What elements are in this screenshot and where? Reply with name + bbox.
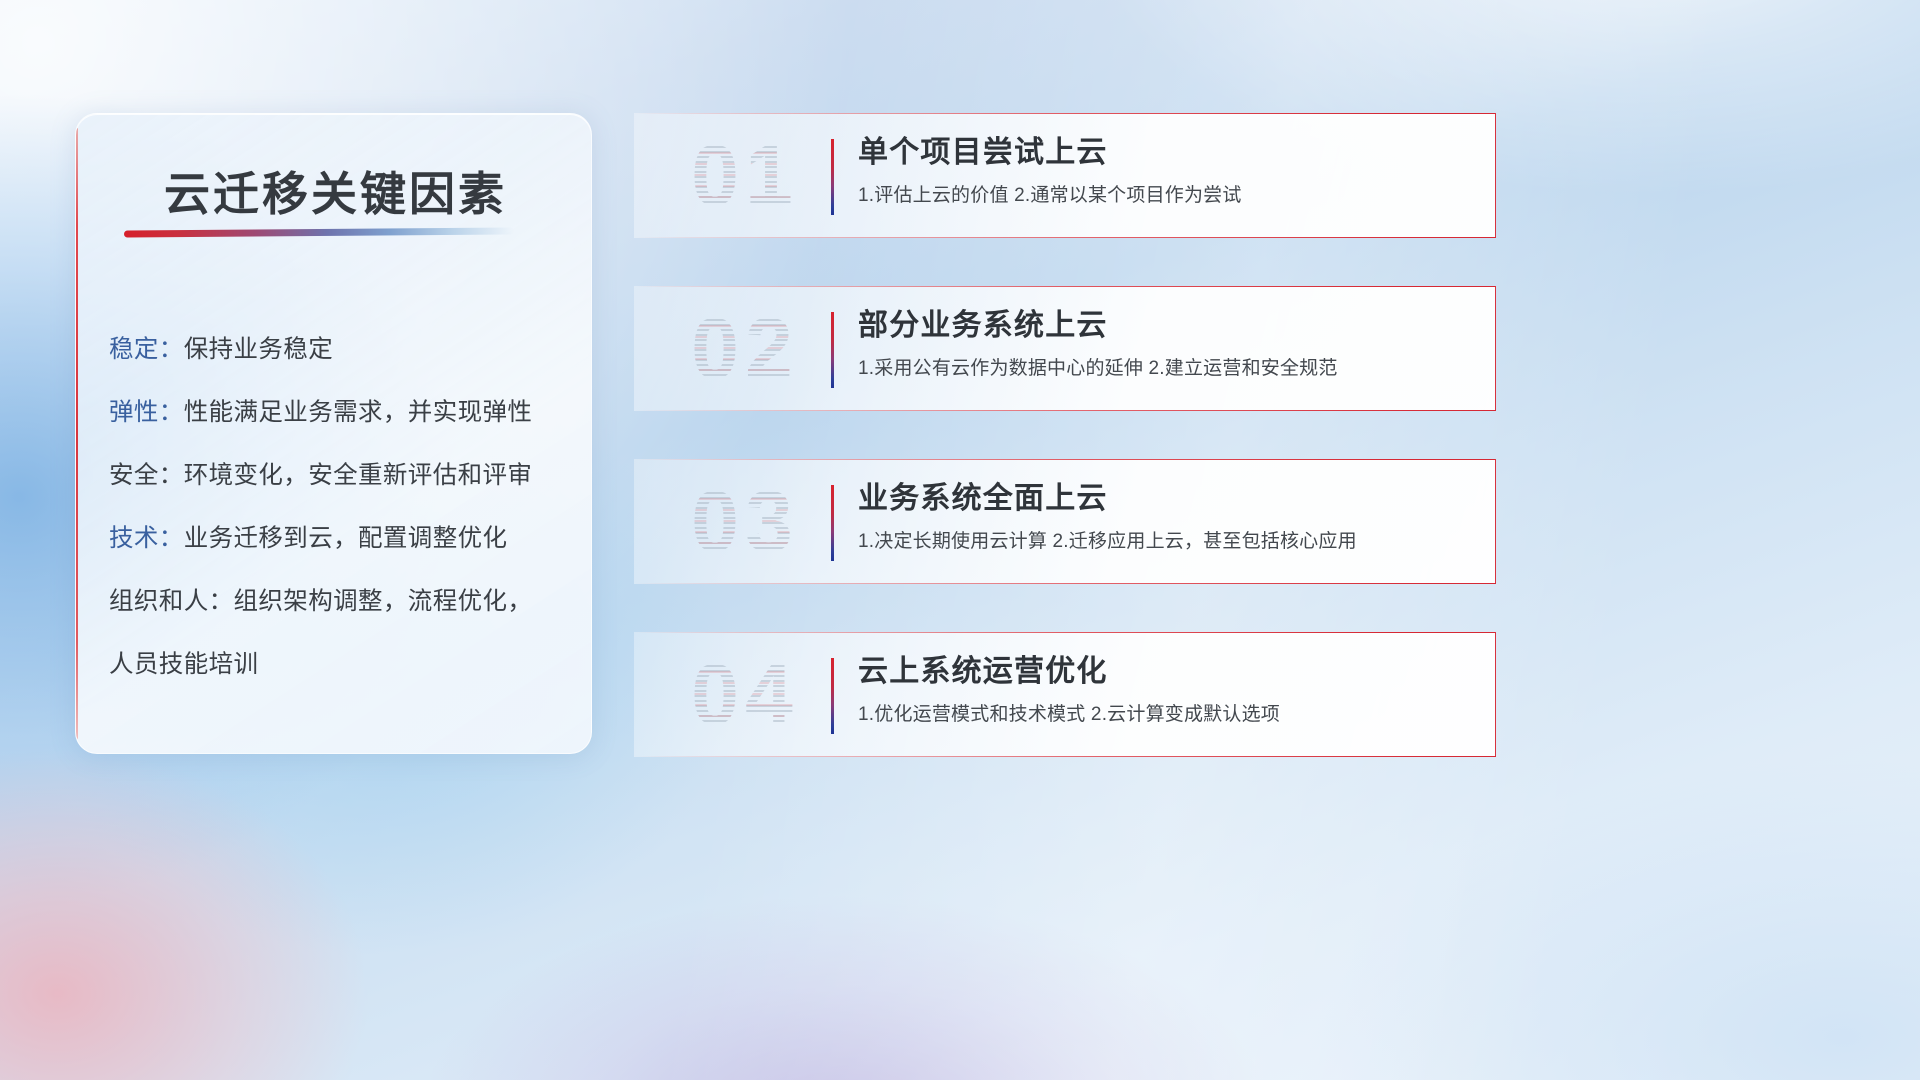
card-title: 部分业务系统上云 — [858, 306, 1470, 346]
migration-stage-cards: 01 01 单个项目尝试上云 1.评估上云的价值 2.通常以某个项目作为尝试 0… — [634, 113, 1496, 805]
card-description: 1.评估上云的价值 2.通常以某个项目作为尝试 — [858, 183, 1470, 209]
stage-number-ghost-tint: 03 — [650, 467, 840, 577]
card-description: 1.优化运营模式和技术模式 2.云计算变成默认选项 — [858, 702, 1470, 728]
factor-label: 稳定： — [109, 336, 184, 363]
factor-text: 性能满足业务需求，并实现弹性 — [184, 399, 533, 426]
factor-label: 安全： — [109, 462, 184, 489]
card-title: 单个项目尝试上云 — [858, 133, 1470, 173]
factor-label: 弹性： — [109, 399, 184, 426]
panel-left-accent-bar — [76, 128, 78, 739]
card-accent-bar — [831, 312, 834, 388]
card-description: 1.采用公有云作为数据中心的延伸 2.建立运营和安全规范 — [858, 356, 1470, 382]
page-title: 云迁移关键因素 — [164, 158, 507, 224]
card-body: 部分业务系统上云 1.采用公有云作为数据中心的延伸 2.建立运营和安全规范 — [858, 306, 1470, 382]
card-right-edge — [1495, 113, 1497, 238]
card-title: 业务系统全面上云 — [858, 479, 1470, 519]
stage-card-02[interactable]: 02 02 部分业务系统上云 1.采用公有云作为数据中心的延伸 2.建立运营和安… — [634, 286, 1496, 411]
card-body: 单个项目尝试上云 1.评估上云的价值 2.通常以某个项目作为尝试 — [858, 133, 1470, 209]
stage-number-ghost-tint: 02 — [650, 294, 840, 404]
card-description: 1.决定长期使用云计算 2.迁移应用上云，甚至包括核心应用 — [858, 529, 1470, 555]
card-title: 云上系统运营优化 — [858, 652, 1470, 692]
factor-row: 弹性：性能满足业务需求，并实现弹性 — [109, 381, 577, 444]
factor-text: 组织架构调整，流程优化， — [234, 588, 533, 615]
factor-text: 人员技能培训 — [109, 651, 258, 678]
stage-card-03[interactable]: 03 03 业务系统全面上云 1.决定长期使用云计算 2.迁移应用上云，甚至包括… — [634, 459, 1496, 584]
stage-card-01[interactable]: 01 01 单个项目尝试上云 1.评估上云的价值 2.通常以某个项目作为尝试 — [634, 113, 1496, 238]
stage-number-ghost-tint: 04 — [650, 640, 840, 750]
factor-text: 环境变化，安全重新评估和评审 — [184, 462, 533, 489]
stage-number-ghost-tint: 01 — [650, 121, 840, 231]
card-right-edge — [1495, 459, 1497, 584]
factor-row: 安全：环境变化，安全重新评估和评审 — [109, 444, 577, 507]
title-underline-rule — [124, 227, 514, 237]
key-factors-panel: 云迁移关键因素 稳定：保持业务稳定 弹性：性能满足业务需求，并实现弹性 安全：环… — [75, 113, 592, 754]
card-accent-bar — [831, 485, 834, 561]
factor-text: 业务迁移到云，配置调整优化 — [184, 525, 508, 552]
card-body: 业务系统全面上云 1.决定长期使用云计算 2.迁移应用上云，甚至包括核心应用 — [858, 479, 1470, 555]
factor-label: 组织和人： — [109, 588, 234, 615]
factor-row: 技术：业务迁移到云，配置调整优化 — [109, 507, 577, 570]
factor-row-continuation: 人员技能培训 — [109, 633, 577, 696]
card-accent-bar — [831, 139, 834, 215]
stage-card-04[interactable]: 04 04 云上系统运营优化 1.优化运营模式和技术模式 2.云计算变成默认选项 — [634, 632, 1496, 757]
card-right-edge — [1495, 286, 1497, 411]
card-body: 云上系统运营优化 1.优化运营模式和技术模式 2.云计算变成默认选项 — [858, 652, 1470, 728]
factor-text: 保持业务稳定 — [184, 336, 333, 363]
card-right-edge — [1495, 632, 1497, 757]
factor-row: 稳定：保持业务稳定 — [109, 318, 577, 381]
factor-label: 技术： — [109, 525, 184, 552]
card-accent-bar — [831, 658, 834, 734]
factor-list: 稳定：保持业务稳定 弹性：性能满足业务需求，并实现弹性 安全：环境变化，安全重新… — [109, 318, 577, 696]
factor-row: 组织和人：组织架构调整，流程优化， — [109, 570, 577, 633]
